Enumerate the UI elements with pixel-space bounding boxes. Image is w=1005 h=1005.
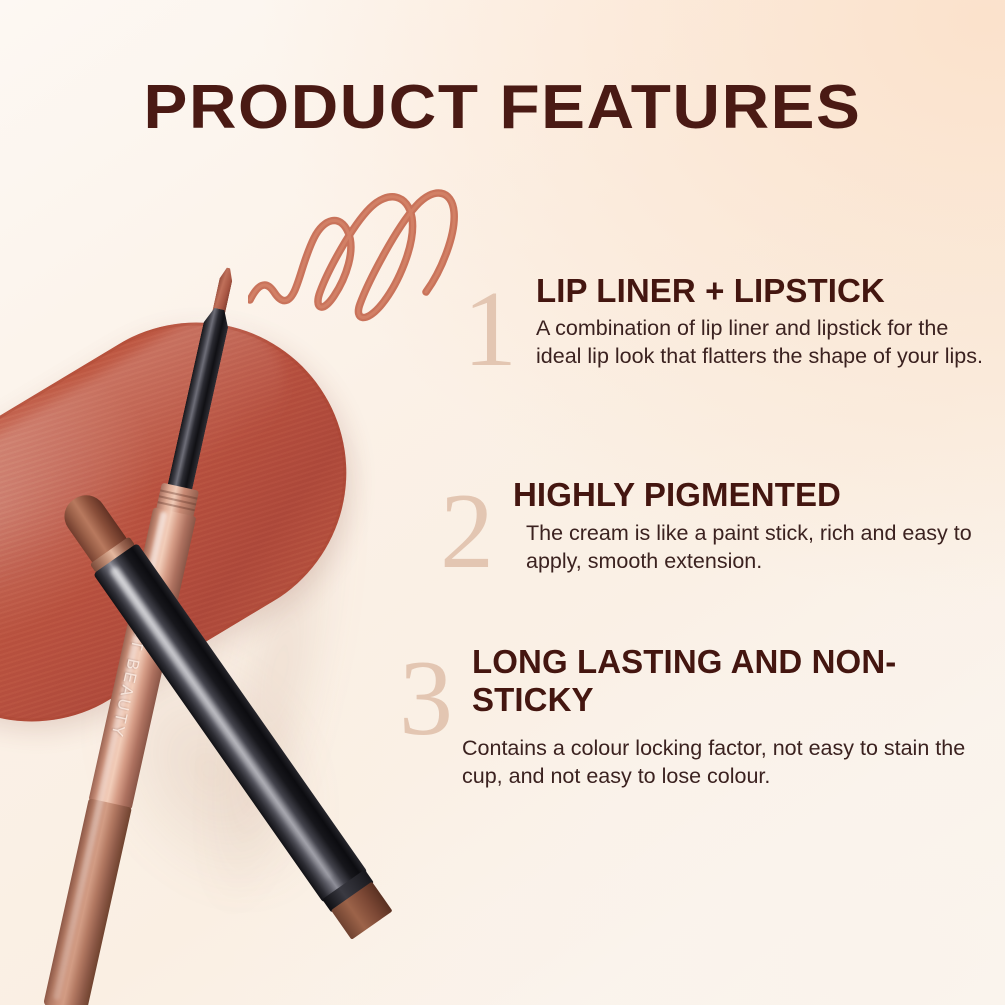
feature-text-3: LONG LASTING AND NON-STICKY Contains a c… <box>472 643 979 790</box>
feature-number-1: 1 <box>463 276 517 384</box>
product-features-banner: QIBEST BEAUTY PRODUCT FEATURES 1 LIP LIN… <box>0 0 1005 1005</box>
pencil-scribble-swatch <box>248 188 478 333</box>
feature-heading-1: LIP LINER + LIPSTICK <box>536 272 983 310</box>
feature-body-3: Contains a colour locking factor, not ea… <box>462 734 979 790</box>
pencil-barrel-lower <box>43 798 132 1005</box>
feature-item-3: 3 LONG LASTING AND NON-STICKY Contains a… <box>399 643 979 790</box>
feature-body-2: The cream is like a paint stick, rich an… <box>526 519 980 575</box>
feature-heading-2: HIGHLY PIGMENTED <box>513 476 980 514</box>
feature-heading-3: LONG LASTING AND NON-STICKY <box>472 643 979 719</box>
feature-text-2: HIGHLY PIGMENTED The cream is like a pai… <box>513 476 980 575</box>
feature-item-2: 2 HIGHLY PIGMENTED The cream is like a p… <box>440 476 980 575</box>
page-title: PRODUCT FEATURES <box>0 77 1005 139</box>
feature-text-1: LIP LINER + LIPSTICK A combination of li… <box>536 272 983 370</box>
feature-number-2: 2 <box>440 478 494 586</box>
feature-item-1: 1 LIP LINER + LIPSTICK A combination of … <box>463 272 983 370</box>
feature-number-3: 3 <box>399 645 453 753</box>
feature-body-1: A combination of lip liner and lipstick … <box>536 314 983 370</box>
